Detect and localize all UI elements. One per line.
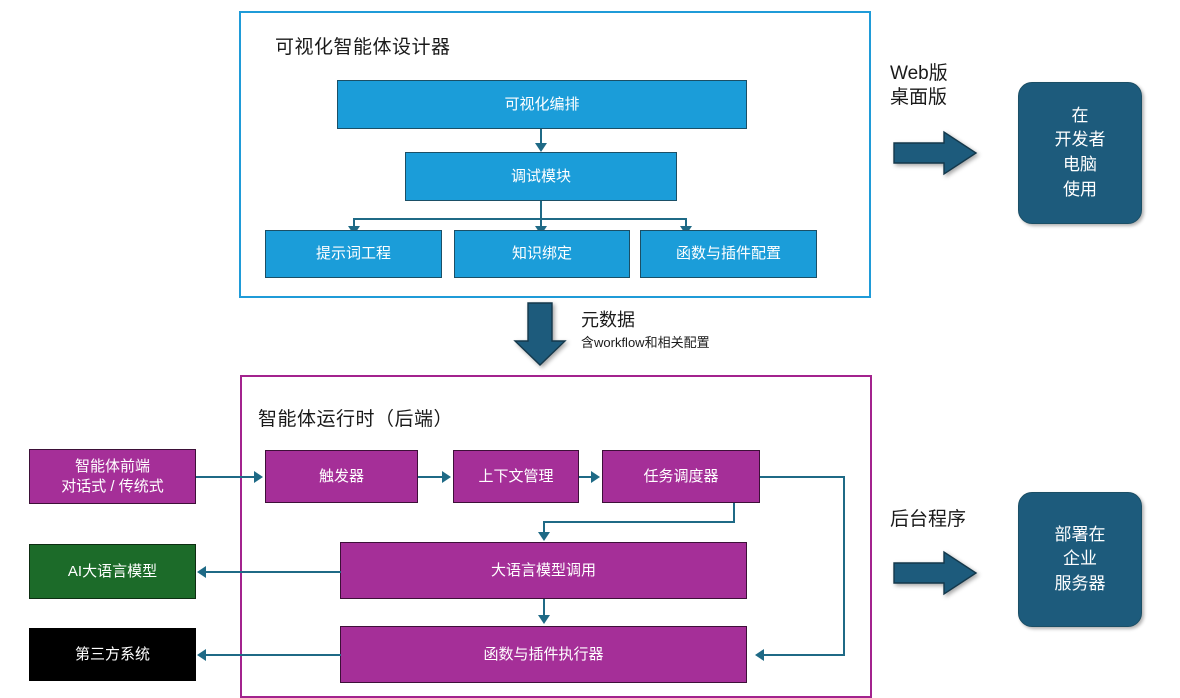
connector-trigger-context [418, 476, 444, 478]
connector-executor-to-thirdparty [205, 654, 341, 656]
node-task-scheduler[interactable]: 任务调度器 [602, 450, 760, 503]
diagram-canvas: 可视化智能体设计器 可视化编排 调试模块 提示词工程 知识绑定 函数与插件配置 … [0, 0, 1180, 698]
arrowhead-executor [538, 615, 550, 624]
arrowhead-llm-call [538, 532, 550, 541]
node-llm-invocation[interactable]: 大语言模型调用 [340, 542, 747, 599]
arrowhead-scheduler [591, 471, 600, 483]
node-prompt-engineering[interactable]: 提示词工程 [265, 230, 442, 278]
block-arrow-right-bottom [892, 550, 978, 596]
target-enterprise-server[interactable]: 部署在 企业 服务器 [1018, 492, 1142, 627]
node-knowledge-binding[interactable]: 知识绑定 [454, 230, 630, 278]
deployment-bottom-label: 后台程序 [890, 508, 994, 532]
arrowhead-ai-llm [197, 566, 206, 578]
block-arrow-right-top [892, 130, 978, 176]
node-agent-frontend[interactable]: 智能体前端 对话式 / 传统式 [29, 449, 196, 504]
block-arrow-down-metadata [512, 301, 568, 367]
designer-panel-title: 可视化智能体设计器 [275, 32, 451, 59]
target-developer-machine[interactable]: 在 开发者 电脑 使用 [1018, 82, 1142, 224]
node-function-plugin-config[interactable]: 函数与插件配置 [640, 230, 817, 278]
arrowhead-third-party [197, 649, 206, 661]
arrowhead-trigger [254, 471, 263, 483]
arrowhead-debug [535, 143, 547, 152]
node-function-plugin-executor[interactable]: 函数与插件执行器 [340, 626, 747, 683]
node-ai-llm[interactable]: AI大语言模型 [29, 544, 196, 599]
node-context-management[interactable]: 上下文管理 [453, 450, 579, 503]
metadata-title: 元数据 [581, 310, 635, 332]
arrowhead-context [442, 471, 451, 483]
connector-scheduler-right [760, 476, 845, 478]
deployment-top-label: Web版 桌面版 [890, 62, 990, 111]
node-third-party-system[interactable]: 第三方系统 [29, 628, 196, 681]
runtime-panel-title: 智能体运行时（后端） [258, 404, 453, 431]
connector-frontend-trigger [196, 476, 256, 478]
connector-scheduler-left [543, 521, 735, 523]
connector-scheduler-down [733, 503, 735, 523]
arrowhead-executor-loop [755, 649, 764, 661]
connector-loop-to-executor [762, 654, 845, 656]
node-trigger[interactable]: 触发器 [265, 450, 418, 503]
connector-right-loop [843, 476, 845, 655]
connector-debug-bus [353, 218, 687, 220]
metadata-subtitle: 含workflow和相关配置 [581, 335, 710, 351]
node-debug-module[interactable]: 调试模块 [405, 152, 677, 201]
connector-llmcall-to-ai [205, 571, 341, 573]
node-visual-orchestration[interactable]: 可视化编排 [337, 80, 747, 129]
connector-debug-trunk [540, 201, 542, 219]
